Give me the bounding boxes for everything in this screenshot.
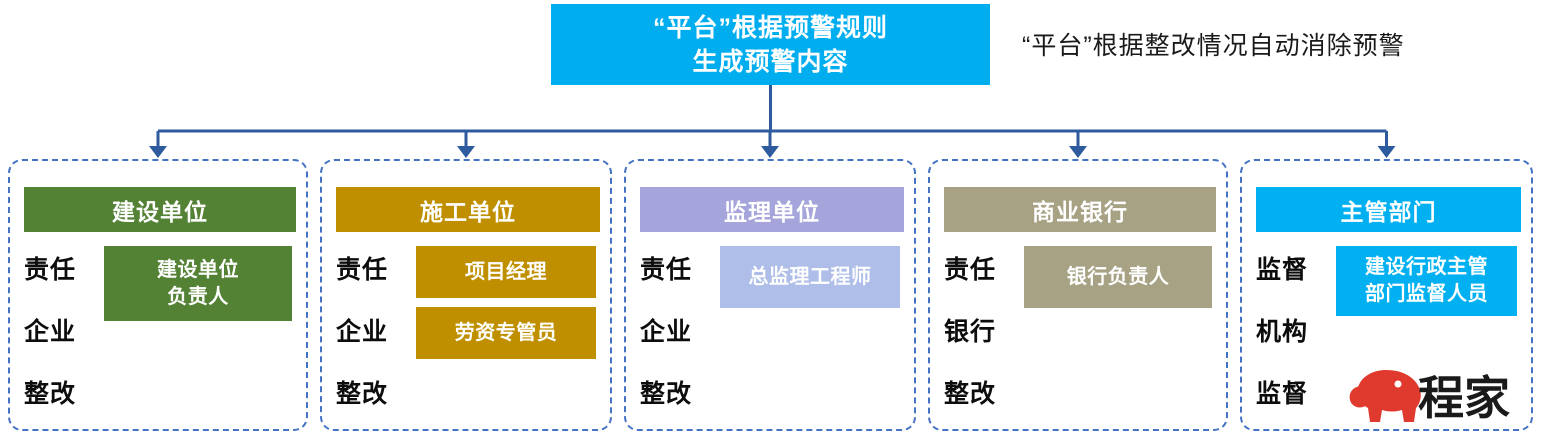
person-card: 劳资专管员 (416, 307, 596, 359)
role-label: 整改 (640, 374, 708, 410)
org-column: 商业银行责任银行整改银行负责人 (928, 159, 1228, 431)
role-label-group: 监督机构监督 (1256, 246, 1324, 410)
person-card-line-1: 总监理工程师 (749, 264, 872, 291)
org-column: 主管部门监督机构监督建设行政主管部门监督人员 (1240, 159, 1533, 431)
org-column-title: 监理单位 (640, 187, 904, 232)
platform-alert-banner: “平台”根据预警规则 生成预警内容 (551, 4, 990, 85)
person-card: 项目经理 (416, 246, 596, 298)
role-label: 责任 (640, 250, 708, 286)
diagram-canvas: “平台”根据预警规则 生成预警内容 “平台”根据整改情况自动消除预警 建设单位责… (0, 0, 1541, 439)
org-column: 施工单位责任企业整改项目经理劳资专管员 (320, 159, 612, 431)
org-column-body: 责任企业整改项目经理劳资专管员 (336, 246, 596, 419)
person-card-line-1: 建设行政主管 (1365, 254, 1488, 281)
role-label-group: 责任企业整改 (336, 246, 404, 410)
person-card-group: 建设单位负责人 (104, 246, 292, 321)
person-card-line-2: 负责人 (167, 284, 229, 311)
banner-line-2: 生成预警内容 (692, 45, 848, 79)
org-column-body: 责任企业整改总监理工程师 (640, 246, 900, 419)
role-label: 整改 (24, 374, 92, 410)
role-label: 企业 (640, 312, 708, 348)
person-card-group: 银行负责人 (1024, 246, 1212, 308)
role-label-group: 责任企业整改 (640, 246, 708, 410)
person-card-line-1: 银行负责人 (1067, 264, 1170, 291)
org-column-body: 责任银行整改银行负责人 (944, 246, 1212, 419)
role-label: 责任 (944, 250, 1012, 286)
org-column-title: 施工单位 (336, 187, 600, 232)
role-label: 监督 (1256, 374, 1324, 410)
person-card: 银行负责人 (1024, 246, 1212, 308)
org-column-title: 建设单位 (24, 187, 296, 232)
role-label-group: 责任银行整改 (944, 246, 1012, 410)
org-column-title: 主管部门 (1256, 187, 1521, 232)
role-label-group: 责任企业整改 (24, 246, 92, 410)
connector-arrowhead (761, 146, 779, 158)
connector-arrowhead (1069, 146, 1087, 158)
org-column-body: 责任企业整改建设单位负责人 (24, 246, 292, 419)
banner-line-1: “平台”根据预警规则 (653, 11, 888, 45)
person-card-line-2: 部门监督人员 (1365, 281, 1488, 308)
platform-auto-clear-note: “平台”根据整改情况自动消除预警 (1022, 26, 1502, 62)
person-card-line-1: 劳资专管员 (455, 320, 558, 347)
person-card-line-1: 项目经理 (465, 259, 547, 286)
connector-arrowhead (149, 146, 167, 158)
connector-arrowhead (457, 146, 475, 158)
org-column-body: 监督机构监督建设行政主管部门监督人员 (1256, 246, 1517, 419)
role-label: 机构 (1256, 312, 1324, 348)
role-label: 责任 (24, 250, 92, 286)
role-label: 整改 (336, 374, 404, 410)
role-label: 责任 (336, 250, 404, 286)
role-label: 整改 (944, 374, 1012, 410)
role-label: 企业 (336, 312, 404, 348)
person-card-line-1: 建设单位 (157, 257, 239, 284)
role-label: 监督 (1256, 250, 1324, 286)
person-card-group: 建设行政主管部门监督人员 (1336, 246, 1517, 316)
person-card: 建设行政主管部门监督人员 (1336, 246, 1517, 316)
person-card: 总监理工程师 (720, 246, 900, 308)
person-card: 建设单位负责人 (104, 246, 292, 321)
role-label: 银行 (944, 312, 1012, 348)
role-label: 企业 (24, 312, 92, 348)
org-column: 建设单位责任企业整改建设单位负责人 (8, 159, 308, 431)
org-column-title: 商业银行 (944, 187, 1216, 232)
org-column: 监理单位责任企业整改总监理工程师 (624, 159, 916, 431)
connector-arrowhead (1378, 146, 1396, 158)
person-card-group: 总监理工程师 (720, 246, 900, 308)
person-card-group: 项目经理劳资专管员 (416, 246, 596, 359)
